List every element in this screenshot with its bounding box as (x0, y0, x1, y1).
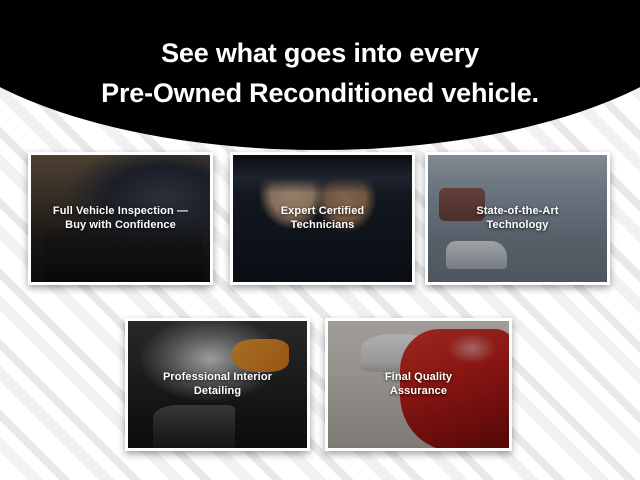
feature-card-professional-interior-detailing[interactable]: Professional Interior Detailing (125, 318, 310, 451)
slide-canvas: See what goes into every Pre-Owned Recon… (0, 0, 640, 480)
feature-card-final-quality-assurance[interactable]: Final Quality Assurance (325, 318, 512, 451)
feature-card-expert-certified-technicians[interactable]: Expert Certified Technicians (230, 152, 415, 285)
feature-card-state-of-the-art-technology[interactable]: State-of-the-Art Technology (425, 152, 610, 285)
feature-card-caption: Final Quality Assurance (334, 370, 503, 400)
page-title: See what goes into every Pre-Owned Recon… (0, 34, 640, 114)
feature-card-full-vehicle-inspection[interactable]: Full Vehicle Inspection — Buy with Confi… (28, 152, 213, 285)
feature-card-caption: Expert Certified Technicians (239, 204, 406, 234)
feature-card-caption: Professional Interior Detailing (134, 370, 301, 400)
feature-card-caption: Full Vehicle Inspection — Buy with Confi… (37, 204, 204, 234)
feature-card-caption: State-of-the-Art Technology (434, 204, 601, 234)
